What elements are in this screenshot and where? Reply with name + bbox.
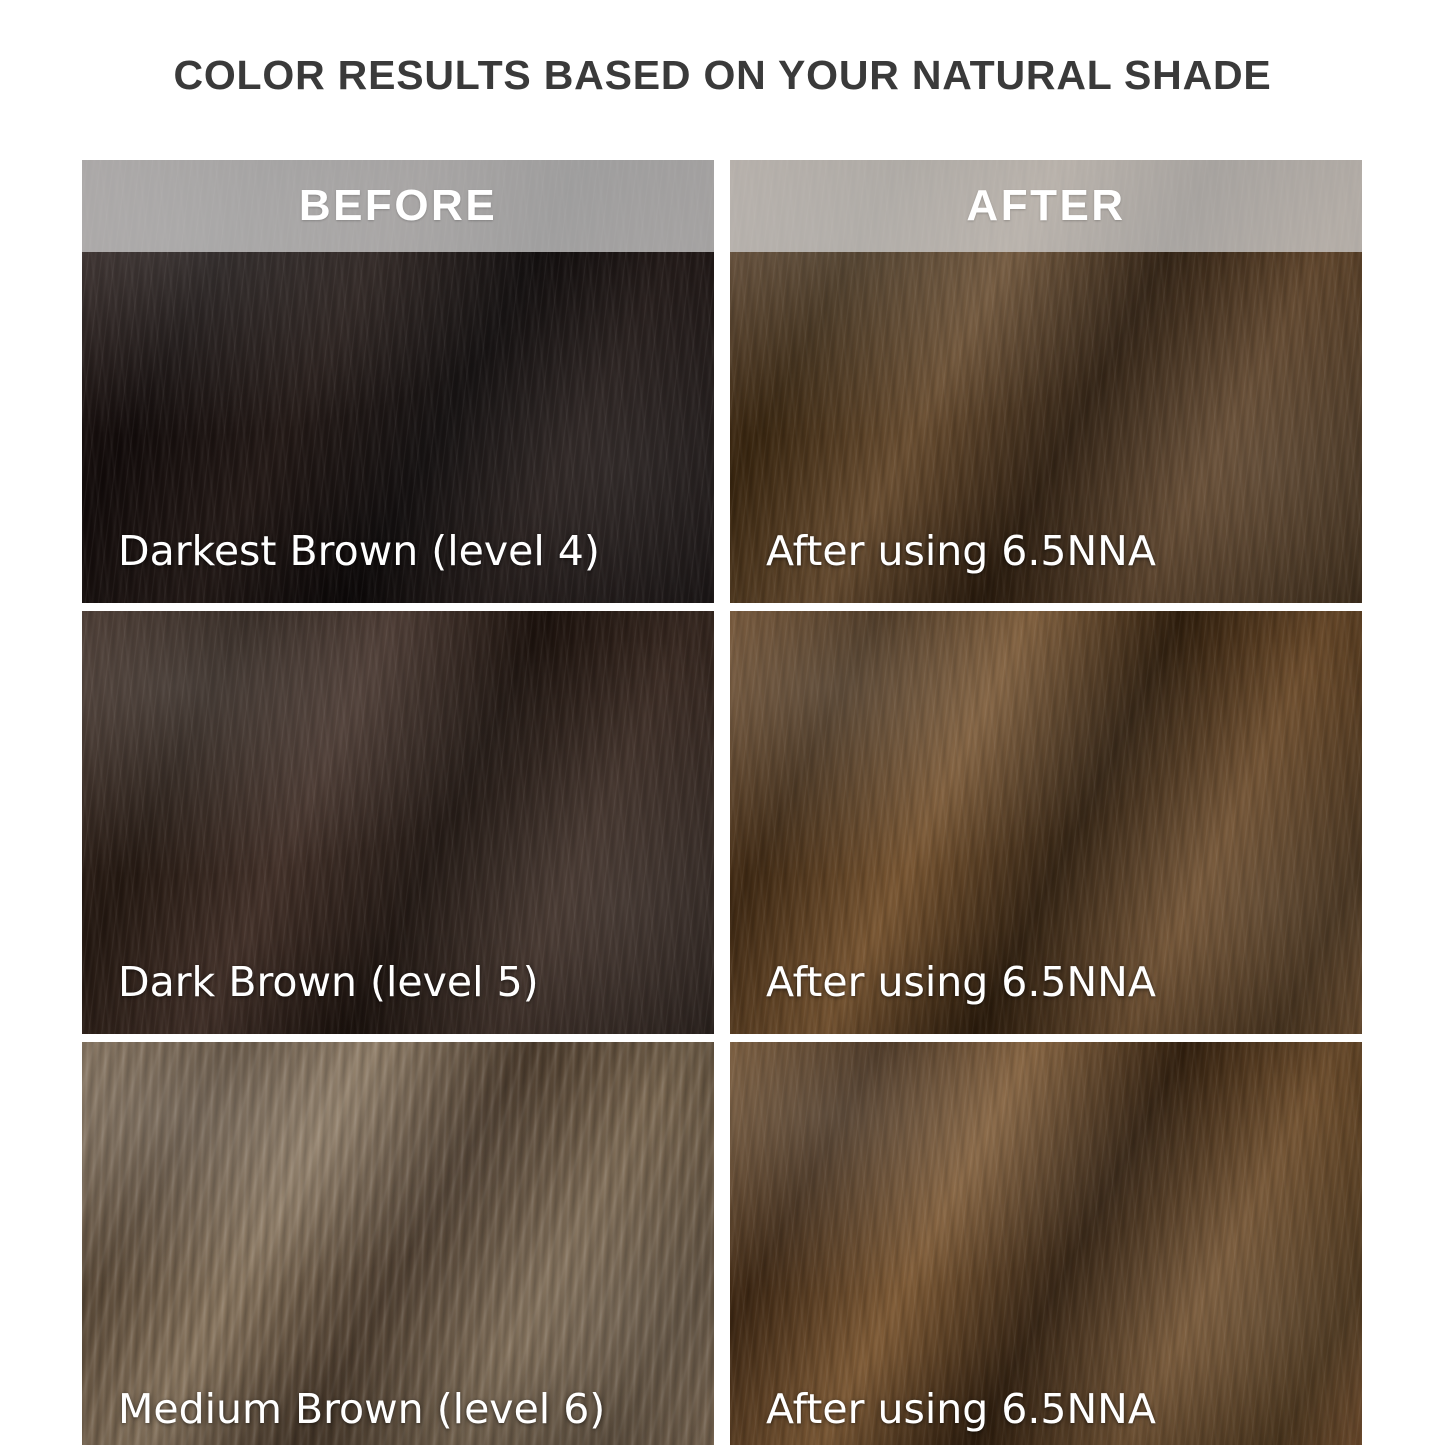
- after-caption-row-1: After using 6.5NNA: [766, 527, 1156, 575]
- before-caption-row-1: Darkest Brown (level 4): [118, 527, 600, 575]
- after-column: AFTER After using 6.5NNA After using 6.5…: [730, 160, 1362, 1445]
- before-caption-row-3: Medium Brown (level 6): [118, 1385, 605, 1433]
- before-cell-row-1: BEFORE Darkest Brown (level 4): [82, 160, 714, 603]
- comparison-chart-page: COLOR RESULTS BASED ON YOUR NATURAL SHAD…: [0, 0, 1445, 1445]
- after-cell-row-1: AFTER After using 6.5NNA: [730, 160, 1362, 603]
- after-cell-row-3: After using 6.5NNA: [730, 1042, 1362, 1445]
- after-cell-row-2: After using 6.5NNA: [730, 611, 1362, 1034]
- after-caption-row-2: After using 6.5NNA: [766, 958, 1156, 1006]
- page-title: COLOR RESULTS BASED ON YOUR NATURAL SHAD…: [0, 52, 1445, 99]
- before-cell-row-2: Dark Brown (level 5): [82, 611, 714, 1034]
- before-column: BEFORE Darkest Brown (level 4) Dark Brow…: [82, 160, 714, 1445]
- after-caption-row-3: After using 6.5NNA: [766, 1385, 1156, 1433]
- before-cell-row-3: Medium Brown (level 6): [82, 1042, 714, 1445]
- before-caption-row-2: Dark Brown (level 5): [118, 958, 539, 1006]
- before-after-grid: BEFORE Darkest Brown (level 4) Dark Brow…: [82, 160, 1362, 1445]
